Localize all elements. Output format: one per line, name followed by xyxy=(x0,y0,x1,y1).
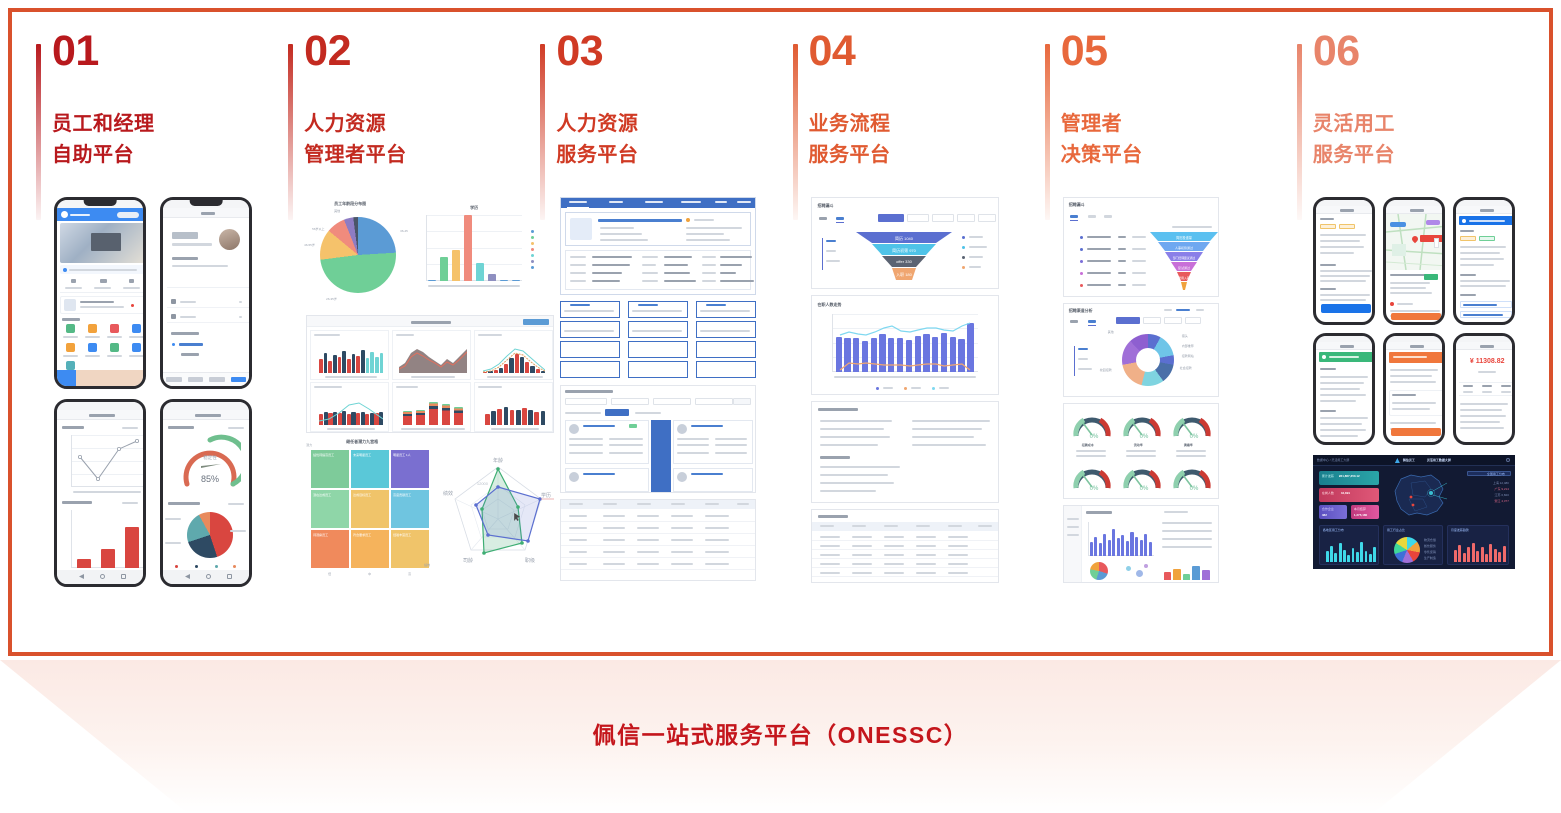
field-value-4 xyxy=(592,264,630,266)
dash-panel-4[interactable] xyxy=(310,382,389,432)
flex-work-bi-dashboard[interactable]: 数据中心 / 灵活用工大屏 佩信灵工 灵活用工数据大屏 累计发薪 ¥61,867… xyxy=(1313,455,1515,569)
column-title-line2: 自助平台 xyxy=(52,140,282,171)
phone-mockup-my-tasks[interactable] xyxy=(1313,333,1375,445)
cell-id xyxy=(603,563,625,565)
channel-tab-1[interactable] xyxy=(1164,309,1172,311)
column-01: 01 员工和经理 自助平台 xyxy=(30,30,282,642)
screenshot-group-04: 招聘漏斗 xyxy=(809,197,1039,642)
column-06: 06 灵活用工 服务平台 xyxy=(1291,30,1543,642)
column-title-02: 人力资源 管理者平台 xyxy=(304,109,534,171)
period-selector[interactable] xyxy=(822,238,844,270)
process-detail-panel[interactable] xyxy=(811,401,999,503)
nav-item-basic[interactable] xyxy=(569,201,587,203)
employee-profile-page[interactable] xyxy=(560,197,756,295)
filter-select-status[interactable] xyxy=(611,398,649,405)
table-row[interactable] xyxy=(812,568,998,577)
stage-count-1 xyxy=(1118,236,1126,238)
employee-name-title xyxy=(598,219,682,222)
dashboard-title xyxy=(411,321,451,324)
column-title-line1: 管理者 xyxy=(1061,109,1291,140)
emp-card-8[interactable] xyxy=(628,341,688,358)
stat-value-1 xyxy=(71,279,76,283)
sidebar-item-2[interactable] xyxy=(1067,526,1079,528)
funnel-title: 招聘漏斗 xyxy=(818,203,834,209)
table-row[interactable] xyxy=(812,550,998,559)
income-col-1-value xyxy=(1463,385,1473,387)
education-chart-card[interactable]: 学历 xyxy=(408,199,554,305)
header-action-button[interactable] xyxy=(117,212,139,218)
panel-5-stacked-bars xyxy=(403,401,463,425)
permission-sub xyxy=(172,265,228,267)
kpi-gauges-card[interactable]: 0% 招聘成本 0% 流动率 xyxy=(1063,403,1219,499)
emp-card-11[interactable] xyxy=(628,361,688,378)
channel-chip-3[interactable] xyxy=(1164,317,1182,324)
funnel-legend-dot-4 xyxy=(962,266,965,269)
column-title-06: 灵活用工 服务平台 xyxy=(1313,109,1543,171)
nav-item-attendance[interactable] xyxy=(715,201,727,203)
cell-dept xyxy=(637,515,659,517)
task-req-title xyxy=(1320,288,1336,290)
nav-item-leave[interactable] xyxy=(737,201,751,203)
headcount-trend-card[interactable]: 在职人数走势 xyxy=(811,295,999,395)
field-value-5 xyxy=(664,264,688,266)
nav-item-social[interactable] xyxy=(681,201,701,203)
bi-panel-1-title: 各地区用工分布 xyxy=(1323,528,1344,532)
team-cost-line-chart xyxy=(71,435,143,487)
bar-bachelor xyxy=(488,274,496,281)
column-title-line2: 服务平台 xyxy=(556,140,786,171)
todo-badge xyxy=(131,304,134,307)
profile-name xyxy=(172,232,198,239)
cell-4 xyxy=(916,563,936,565)
col-header-2 xyxy=(852,525,866,527)
svg-text:0%: 0% xyxy=(1089,486,1098,492)
table-row[interactable] xyxy=(561,546,755,558)
channel-tab-summary[interactable] xyxy=(1070,320,1078,323)
cell-date xyxy=(705,539,729,541)
income-col-1-label xyxy=(1463,391,1473,393)
tab-home[interactable] xyxy=(166,377,182,382)
emp-card-7[interactable] xyxy=(560,341,620,358)
field-label-2 xyxy=(642,256,658,258)
app-field-2 xyxy=(1460,252,1500,254)
table-row[interactable] xyxy=(812,532,998,541)
cell-date xyxy=(705,551,729,553)
nav-title-clockin xyxy=(1410,345,1424,348)
footer-title: 佩信一站式服务平台（ONESSC） xyxy=(0,716,1561,750)
filter-select-org[interactable] xyxy=(565,398,607,405)
card-3-title xyxy=(706,304,726,306)
funnel-tab-position[interactable] xyxy=(1088,215,1096,218)
headcount-line-series xyxy=(836,314,974,372)
funnel-tab-summary[interactable] xyxy=(1070,215,1078,218)
detail-card-1-row3 xyxy=(569,444,603,446)
funnel-legend-dot-2 xyxy=(962,246,965,249)
gauge-3: 0% xyxy=(1170,408,1214,442)
bar-single-salary xyxy=(125,527,139,568)
efficiency-right-row-1 xyxy=(1162,522,1212,524)
column-accent-bar-05 xyxy=(1045,44,1050,220)
sidebar-item-1[interactable] xyxy=(1067,518,1079,520)
permission-title xyxy=(172,257,198,260)
cell-4 xyxy=(916,554,936,556)
android-recents-icon[interactable] xyxy=(121,574,126,579)
kpi-3-label: 合作企业 xyxy=(1322,507,1334,511)
app-field-3 xyxy=(1460,258,1504,260)
nine-box-cell-3-text: 明星员工 1人 xyxy=(393,453,411,457)
detail-card-2-row1 xyxy=(677,438,709,440)
recruitment-funnel-card[interactable]: 招聘漏斗 xyxy=(811,197,999,289)
bar-junior xyxy=(440,257,448,281)
phone-mockup-team-stability[interactable]: 85% 稳定性 xyxy=(160,399,252,587)
column-03: 03 人力资源 服务平台 xyxy=(534,30,786,642)
channel-tab-position[interactable] xyxy=(1088,320,1096,323)
clockin-card-row2 xyxy=(1392,408,1430,410)
column-title-line2: 管理者平台 xyxy=(304,140,534,171)
funnel-filter-chip-4[interactable] xyxy=(957,214,975,222)
task-row-2 xyxy=(1320,382,1364,384)
phone-notch xyxy=(190,200,223,206)
nine-box-cell-8-text: 符合要求员工 xyxy=(353,533,371,537)
funnel-filter-chip-3[interactable] xyxy=(932,214,954,222)
clockin-row-2 xyxy=(1390,375,1432,377)
income-item-2 xyxy=(1460,409,1502,411)
android-recents-icon[interactable] xyxy=(227,574,232,579)
recruitment-funnel-analysis-card[interactable]: 招聘漏斗 xyxy=(1063,197,1219,297)
process-data-table[interactable] xyxy=(811,509,999,583)
screenshot-group-02: 员工年龄段分布图 36-45岁 26-35岁 46-55岁 56岁以上 其他 学… xyxy=(304,197,534,642)
grid-icon-8[interactable] xyxy=(132,343,141,352)
trend-legend-dot-1 xyxy=(876,387,879,390)
col-header-id xyxy=(603,503,617,505)
cell-2 xyxy=(852,554,872,556)
funnel-chart-inverted: 简历投递量 人事初筛通过 部门经理面试通过 复试通过 录用入职 xyxy=(1150,232,1218,294)
funnel-subhead xyxy=(1172,226,1212,228)
funnel-filter-chip-active[interactable] xyxy=(878,214,904,222)
status-text xyxy=(694,219,714,221)
trend-legend-dot-2 xyxy=(904,387,907,390)
map-zoom-control[interactable] xyxy=(1434,238,1439,248)
funnel-tab-summary[interactable] xyxy=(819,217,827,220)
app-desc-title xyxy=(1460,274,1476,276)
phone-mockup-self-service-home[interactable] xyxy=(54,197,146,389)
map-card-field-3 xyxy=(1390,292,1432,294)
period-month[interactable] xyxy=(826,250,836,252)
bi-panel-industry-share[interactable]: 用工行业占比 物流仓储 餐饮服务 零售促销 生产制造 xyxy=(1383,525,1443,565)
field-label-6 xyxy=(702,264,716,266)
age-distribution-chart-card[interactable]: 员工年龄段分布图 36-45岁 26-35岁 46-55岁 56岁以上 其他 xyxy=(304,197,424,305)
efficiency-mini-bar-series xyxy=(1164,564,1210,580)
nav-title-report xyxy=(89,414,115,417)
phone-mockup-task-detail[interactable] xyxy=(1313,197,1375,325)
column-title-line2: 服务平台 xyxy=(1313,140,1543,171)
grid-icon-5[interactable] xyxy=(66,343,75,352)
pie-label-work xyxy=(165,542,181,544)
process-field-3 xyxy=(820,428,884,430)
gauge-2-sub2 xyxy=(1126,455,1156,457)
emp-card-9[interactable] xyxy=(696,341,756,358)
process-field-7 xyxy=(820,444,878,446)
cell-date xyxy=(705,527,729,529)
hr-analytics-dashboard[interactable] xyxy=(306,315,554,433)
channel-chip-2[interactable] xyxy=(1143,317,1161,324)
funnel-filter-chip-2[interactable] xyxy=(907,214,929,222)
efficiency-analysis-card[interactable] xyxy=(1063,505,1219,583)
chart2-actions[interactable] xyxy=(122,502,138,504)
table-row[interactable] xyxy=(561,522,755,534)
gauge-5: 0% xyxy=(1120,460,1164,494)
table-row[interactable] xyxy=(812,541,998,550)
table-row[interactable] xyxy=(561,510,755,522)
link-task-notice-text xyxy=(1463,304,1497,306)
channel-period-quarter[interactable] xyxy=(1078,368,1092,370)
cell-name xyxy=(569,527,587,529)
nine-box-x-mid: 中 xyxy=(368,572,371,576)
detail-card-3-name xyxy=(583,473,615,475)
dash-panel-5[interactable] xyxy=(392,382,471,432)
apply-now-button[interactable] xyxy=(1321,304,1371,313)
column-title-line2: 服务平台 xyxy=(809,140,1039,171)
nav-title-my xyxy=(201,212,215,215)
cell-position xyxy=(671,563,693,565)
info-row-4 xyxy=(686,227,742,229)
income-item-4 xyxy=(1460,421,1500,423)
top-nav-bar[interactable] xyxy=(561,198,755,208)
search-button[interactable] xyxy=(733,398,751,405)
phone-mockup-clock-in[interactable] xyxy=(1383,333,1445,445)
info-row-3 xyxy=(600,239,648,241)
scatter-dot-2 xyxy=(1136,570,1143,577)
stage-rate-2 xyxy=(1132,248,1146,250)
stage-label-5 xyxy=(1087,284,1111,286)
dash-panel-2[interactable] xyxy=(392,330,471,380)
map-bottom-button[interactable] xyxy=(1391,313,1441,320)
task-field-2 xyxy=(1320,240,1360,242)
bi-brand: 佩信灵工 xyxy=(1403,458,1415,462)
grid-icon-3[interactable] xyxy=(110,324,119,333)
timeline-dot xyxy=(172,343,175,346)
cell-2 xyxy=(852,545,872,547)
task-desc-title xyxy=(1320,264,1336,266)
task-row-5 xyxy=(1320,400,1356,402)
period-week[interactable] xyxy=(826,240,836,242)
income-amount: ¥ 11308.82 xyxy=(1470,358,1505,365)
grid-icon-4[interactable] xyxy=(132,324,141,333)
task-field-4 xyxy=(1320,252,1354,254)
phone-mockup-application-detail[interactable] xyxy=(1453,197,1515,325)
map-apply-chip[interactable] xyxy=(1424,274,1438,280)
bi-panel-region-distribution[interactable]: 各地区用工分布 xyxy=(1319,525,1379,565)
stage-rate-3 xyxy=(1132,260,1146,262)
grid-icon-6[interactable] xyxy=(88,343,97,352)
table-row[interactable] xyxy=(561,558,755,570)
map-card-field-2 xyxy=(1390,287,1426,289)
channel-period-selector[interactable] xyxy=(1074,346,1096,376)
employee-card-grid[interactable] xyxy=(560,301,756,379)
chart1-actions[interactable] xyxy=(122,427,138,429)
avatar xyxy=(219,229,240,250)
notice-text xyxy=(69,269,137,271)
emp-card-12[interactable] xyxy=(696,361,756,378)
card-6-body xyxy=(700,330,750,332)
android-home-icon[interactable] xyxy=(100,574,105,579)
efficiency-bars xyxy=(1090,522,1152,556)
emp-card-10[interactable] xyxy=(560,361,620,378)
channel-tab-3[interactable] xyxy=(1196,309,1204,311)
task-row-6 xyxy=(1320,417,1368,419)
detail-card-2-row3 xyxy=(677,444,709,446)
process-field-12 xyxy=(820,490,876,492)
nav-title xyxy=(1340,209,1354,212)
cell-name xyxy=(569,551,587,553)
panel-4-title xyxy=(314,386,342,388)
tab-messages[interactable] xyxy=(188,377,204,382)
android-home-icon[interactable] xyxy=(206,574,211,579)
column-title-04: 业务流程 服务平台 xyxy=(809,109,1039,171)
stage-count-4 xyxy=(1118,272,1126,274)
channel-period-week[interactable] xyxy=(1078,348,1088,350)
detail-card-1-row6 xyxy=(609,452,643,454)
income-item-1 xyxy=(1460,403,1508,405)
map-card-field-1 xyxy=(1390,282,1430,284)
dash-panel-1[interactable] xyxy=(310,330,389,380)
bi-panel-payout-trend[interactable]: 月度发薪趋势 xyxy=(1447,525,1509,565)
table-row[interactable] xyxy=(812,559,998,568)
tasks-section-title xyxy=(1320,368,1336,370)
process-field-5 xyxy=(820,436,890,438)
gauge-4: 0% xyxy=(1070,460,1114,494)
task-section-title xyxy=(1320,218,1334,220)
nav-item-salary[interactable] xyxy=(645,201,663,203)
stability-gauge-chart: 85% 稳定性 xyxy=(179,434,241,492)
column-title-05: 管理者 决策平台 xyxy=(1061,109,1291,171)
column-title-01: 员工和经理 自助平台 xyxy=(52,109,282,171)
channel-label-2: 内部推荐 xyxy=(1182,344,1194,348)
funnel-legend-dot-3 xyxy=(962,256,965,259)
channel-chip-active[interactable] xyxy=(1116,317,1140,324)
map-chip-1[interactable] xyxy=(1390,222,1406,227)
gauge-1-sub2 xyxy=(1076,455,1106,457)
stability-actions[interactable] xyxy=(228,427,244,429)
funnel-tab-underline xyxy=(1070,220,1078,221)
period-quarter[interactable] xyxy=(826,260,840,262)
cell-position xyxy=(671,539,693,541)
table-header xyxy=(561,500,755,509)
task-desc-1 xyxy=(1320,270,1372,272)
phone-mockup-work-map[interactable] xyxy=(1383,197,1445,325)
task-desc-3 xyxy=(1320,280,1366,282)
trend-title: 在职人数走势 xyxy=(818,302,842,308)
map-chip-2[interactable] xyxy=(1426,220,1440,225)
cell-4 xyxy=(916,536,936,538)
team-cost-bar-chart xyxy=(77,510,139,568)
channel-tab-underline xyxy=(1088,325,1096,326)
grid-icon-7[interactable] xyxy=(110,343,119,352)
nav-title-map xyxy=(1410,209,1424,212)
toolbar-labels xyxy=(565,412,601,414)
x-axis-labels-line xyxy=(73,491,141,493)
phone-tab-bar[interactable] xyxy=(163,372,249,386)
cell-dept xyxy=(637,551,659,553)
phone-mockup-my-income[interactable]: ¥ 11308.82 xyxy=(1453,333,1515,445)
funnel-filter-chip-5[interactable] xyxy=(978,214,996,222)
attrition-actions[interactable] xyxy=(228,503,244,505)
clockin-button[interactable] xyxy=(1391,428,1441,436)
cell-position xyxy=(671,515,693,517)
task-field-3 xyxy=(1320,246,1364,248)
table-caption xyxy=(818,515,848,518)
user-name-label xyxy=(70,214,90,216)
svg-text:绩效: 绩效 xyxy=(443,490,453,497)
bi-settings-icon[interactable] xyxy=(1506,458,1510,462)
grid-icon-9[interactable] xyxy=(66,361,75,370)
filter-date-input[interactable] xyxy=(695,398,733,405)
detail-card-1-row5 xyxy=(569,452,603,454)
grid-label-4 xyxy=(129,336,144,338)
channel-period-month[interactable] xyxy=(1078,358,1088,360)
funnel-tab-position[interactable] xyxy=(836,217,844,220)
bi-map-row-2: 广东 9,214 xyxy=(1495,487,1509,491)
tab-hall[interactable] xyxy=(209,377,225,382)
column-number-03: 03 xyxy=(556,30,786,73)
filter-select-position[interactable] xyxy=(653,398,691,405)
cell-1 xyxy=(820,554,840,556)
nine-box-grid-card[interactable]: 继任者潜力九宫格 绩优待提高员工 未来明星员工 明星员工 1人 潜在达成员工 达… xyxy=(306,439,434,583)
panel-5-legend xyxy=(401,428,465,430)
sidebar-item-3[interactable] xyxy=(1067,534,1079,536)
recruitment-channel-card[interactable]: 招聘渠道分析 猎头 xyxy=(1063,303,1219,397)
svg-text:offer 330: offer 330 xyxy=(896,259,912,264)
panel-6-legend xyxy=(491,428,539,430)
tab-mine[interactable] xyxy=(231,377,247,382)
grid-icon-1[interactable] xyxy=(66,324,75,333)
field-value-1 xyxy=(592,256,632,258)
channel-label-3: 招聘网站 xyxy=(1182,354,1194,358)
svg-text:稳定性: 稳定性 xyxy=(203,454,217,461)
phone-mockup-my-profile[interactable] xyxy=(160,197,252,389)
efficiency-mini-pie xyxy=(1090,562,1108,580)
batch-import-button[interactable] xyxy=(605,409,629,416)
funnel-tab-person[interactable] xyxy=(1104,215,1112,218)
nav-item-contract[interactable] xyxy=(609,201,623,203)
phone-mockup-team-cost-analysis[interactable] xyxy=(54,399,146,587)
kpi-2-value: 34,891 xyxy=(1341,491,1350,495)
card-1-title xyxy=(570,304,590,306)
phone-status-bar xyxy=(57,402,143,410)
cell-5 xyxy=(948,545,968,547)
channel-chip-4[interactable] xyxy=(1185,317,1201,324)
employee-search-panel[interactable] xyxy=(560,385,756,493)
stage-dot-2 xyxy=(1080,248,1083,251)
employee-data-table[interactable] xyxy=(560,499,756,581)
grid-label-8 xyxy=(129,355,144,357)
grid-icon-2[interactable] xyxy=(88,324,97,333)
table-row[interactable] xyxy=(561,534,755,546)
field-value-2 xyxy=(664,256,692,258)
cell-5 xyxy=(948,563,968,565)
svg-text:入职 180: 入职 180 xyxy=(896,272,913,277)
channel-tab-2[interactable] xyxy=(1176,309,1190,311)
panel-1-bars xyxy=(319,347,383,373)
svg-text:85%: 85% xyxy=(201,474,219,484)
phone-notch xyxy=(84,200,117,206)
column-title-line1: 灵活用工 xyxy=(1313,109,1543,140)
channel-label-5: 校园招聘 xyxy=(1100,368,1112,372)
footer: 佩信一站式服务平台（ONESSC） xyxy=(0,660,1561,813)
funnel-analysis-title: 招聘漏斗 xyxy=(1069,202,1085,208)
gauge-1-sub1 xyxy=(1076,450,1106,452)
grid-label-1 xyxy=(63,336,78,338)
